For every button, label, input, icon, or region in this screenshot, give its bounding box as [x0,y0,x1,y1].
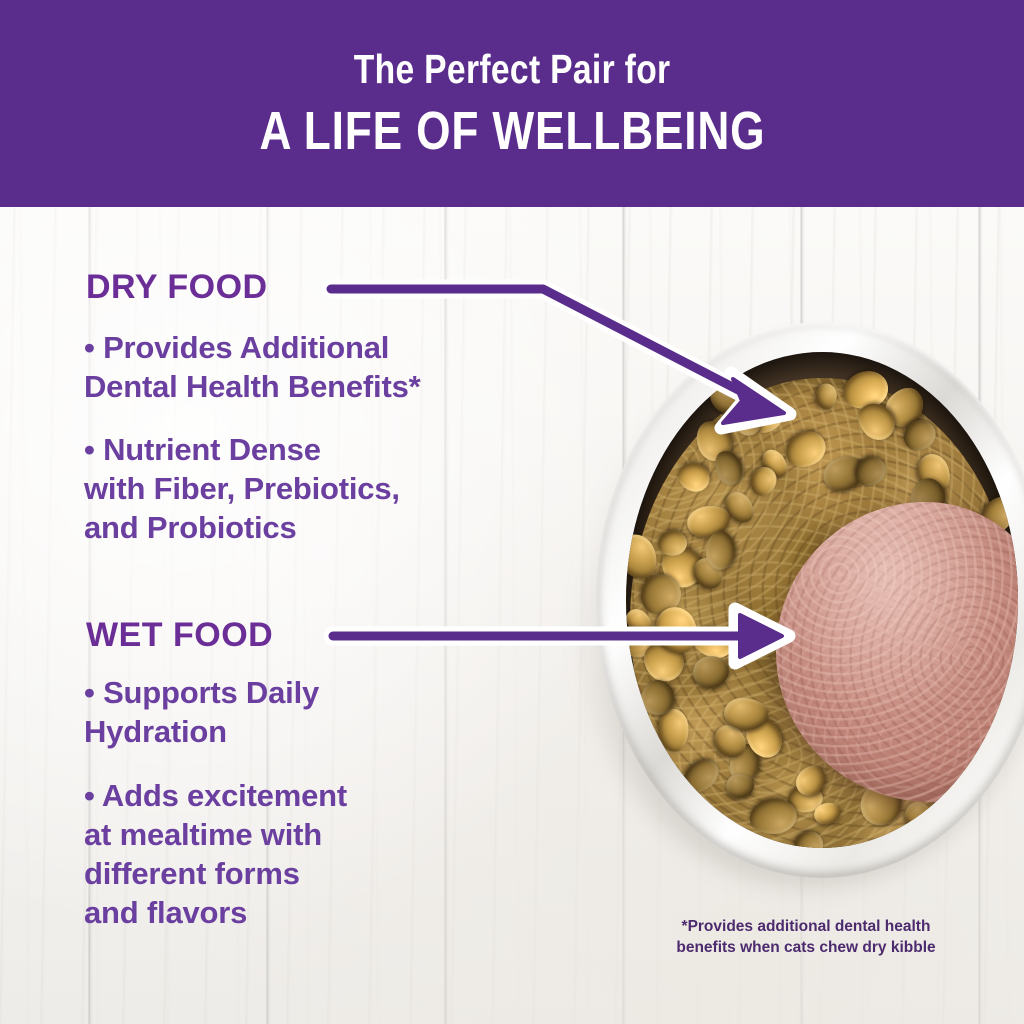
wet-food-bullet-2: • Adds excitement at mealtime with diffe… [84,776,347,932]
footnote-line-1: *Provides additional dental health [648,917,964,938]
wet-food-bullet-1-line-1: • Supports Daily [84,673,319,712]
kibble-piece [726,773,754,798]
wet-food-bullet-1-line-2: Hydration [84,712,319,751]
footnote: *Provides additional dental health benef… [648,917,964,959]
wet-food-bullet-2-line-4: and flavors [84,893,347,932]
wet-food-bullet-2-line-3: different forms [84,854,347,893]
infographic-page: The Perfect Pair for A LIFE OF WELLBEING [0,0,1024,1024]
dry-food-heading: DRY FOOD [86,268,268,307]
dry-food-bullet-2-line-3: and Probiotics [84,508,400,547]
kibble-piece [816,383,837,409]
header-line-1: The Perfect Pair for [354,49,671,90]
wet-food-heading: WET FOOD [86,616,273,655]
wet-food-bullet-1: • Supports Daily Hydration [84,673,319,751]
dry-food-bullet-1: • Provides Additional Dental Health Bene… [84,328,420,406]
cat-food-bowl-photo [596,322,1024,878]
dry-food-bullet-2-line-1: • Nutrient Dense [84,430,400,469]
wet-food-bullet-2-line-1: • Adds excitement [84,776,347,815]
dry-food-bullet-1-line-2: Dental Health Benefits* [84,367,420,406]
header-line-2: A LIFE OF WELLBEING [259,104,765,158]
dry-food-bullet-1-line-1: • Provides Additional [84,328,420,367]
footnote-line-2: benefits when cats chew dry kibble [648,938,964,959]
wet-food-bullet-2-line-2: at mealtime with [84,815,347,854]
header-banner: The Perfect Pair for A LIFE OF WELLBEING [0,0,1024,207]
dry-food-bullet-2: • Nutrient Dense with Fiber, Prebiotics,… [84,430,400,547]
bowl-interior [626,352,1018,848]
dry-food-bullet-2-line-2: with Fiber, Prebiotics, [84,469,400,508]
